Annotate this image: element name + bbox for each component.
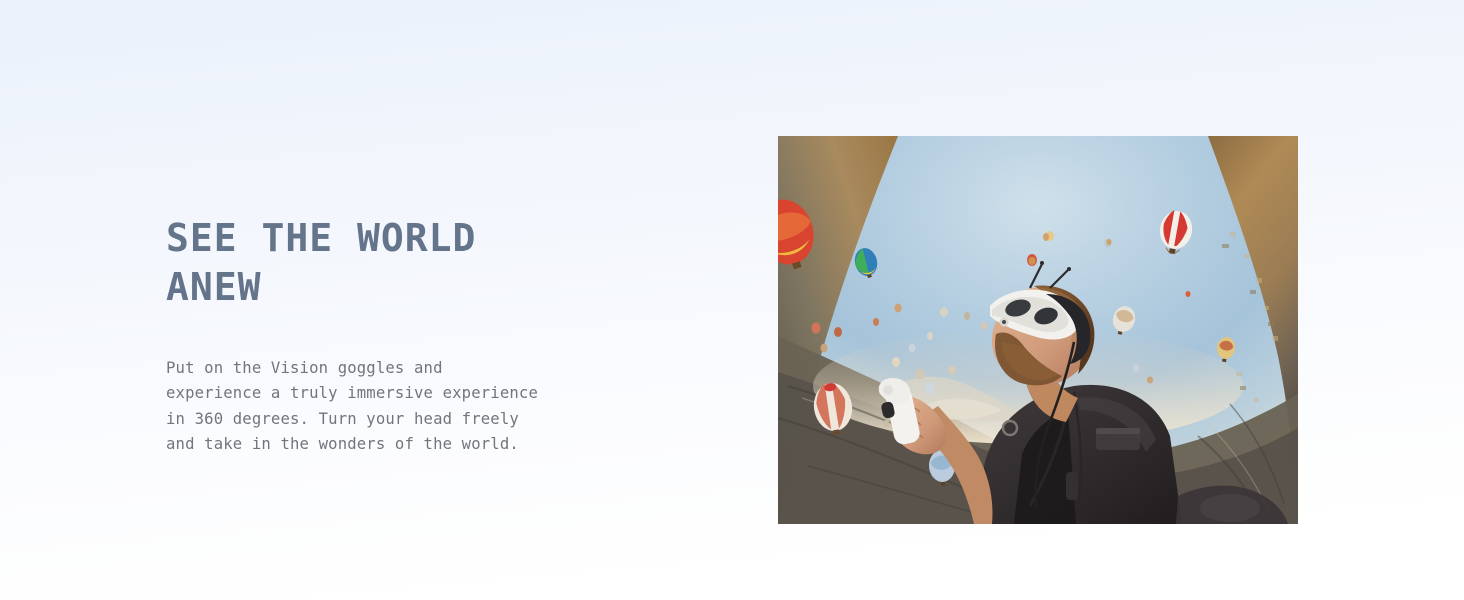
hero-image — [778, 136, 1298, 524]
hero-description: Put on the Vision goggles and experience… — [166, 356, 686, 458]
hero-copy-block: SEE THE WORLD ANEW Put on the Vision gog… — [166, 214, 686, 458]
page-title: SEE THE WORLD ANEW — [166, 214, 686, 312]
vr-360-balloon-illustration — [778, 136, 1298, 524]
hero-section: SEE THE WORLD ANEW Put on the Vision gog… — [0, 0, 1464, 600]
